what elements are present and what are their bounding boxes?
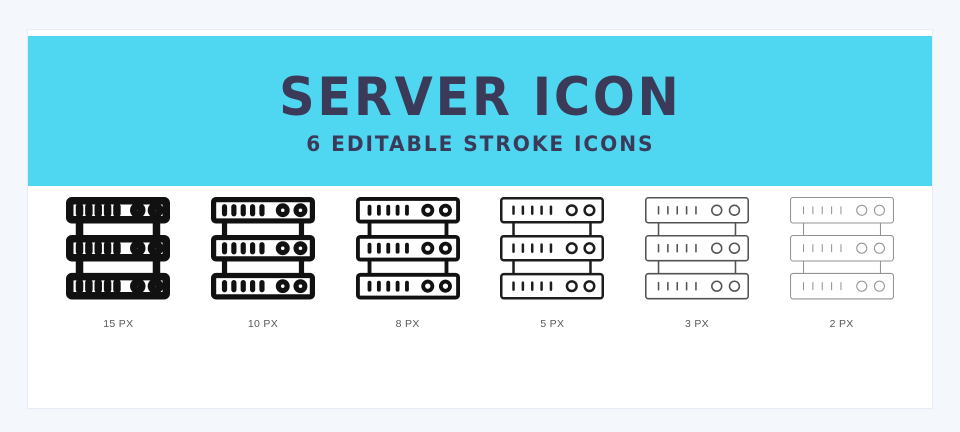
icon-cell: 5 PX [488,186,616,330]
icon-showcase: 15 PX10 PX8 PX5 PX3 PX2 PX [28,186,932,408]
icon-cell: 15 PX [54,186,182,330]
server-icon[interactable] [496,186,608,298]
server-icon[interactable] [352,186,464,298]
server-icon[interactable] [62,186,174,298]
page-title: SERVER ICON [279,71,681,124]
header-banner: SERVER ICON 6 EDITABLE STROKE ICONS [28,36,932,186]
icon-size-label: 2 PX [830,318,854,330]
page-root: SERVER ICON 6 EDITABLE STROKE ICONS 15 P… [0,0,960,432]
server-icon[interactable] [786,186,898,298]
icon-size-label: 3 PX [685,318,709,330]
icon-size-label: 5 PX [540,318,564,330]
content-card: SERVER ICON 6 EDITABLE STROKE ICONS 15 P… [28,30,932,408]
icon-cell: 10 PX [199,186,327,330]
icon-cell: 3 PX [633,186,761,330]
icon-size-label: 10 PX [248,318,278,330]
icon-cell: 2 PX [778,186,906,330]
server-icon[interactable] [207,186,319,298]
icon-cell: 8 PX [344,186,472,330]
icon-size-label: 8 PX [396,318,420,330]
page-subtitle: 6 EDITABLE STROKE ICONS [306,134,654,155]
server-icon[interactable] [641,186,753,298]
icon-size-label: 15 PX [103,318,133,330]
